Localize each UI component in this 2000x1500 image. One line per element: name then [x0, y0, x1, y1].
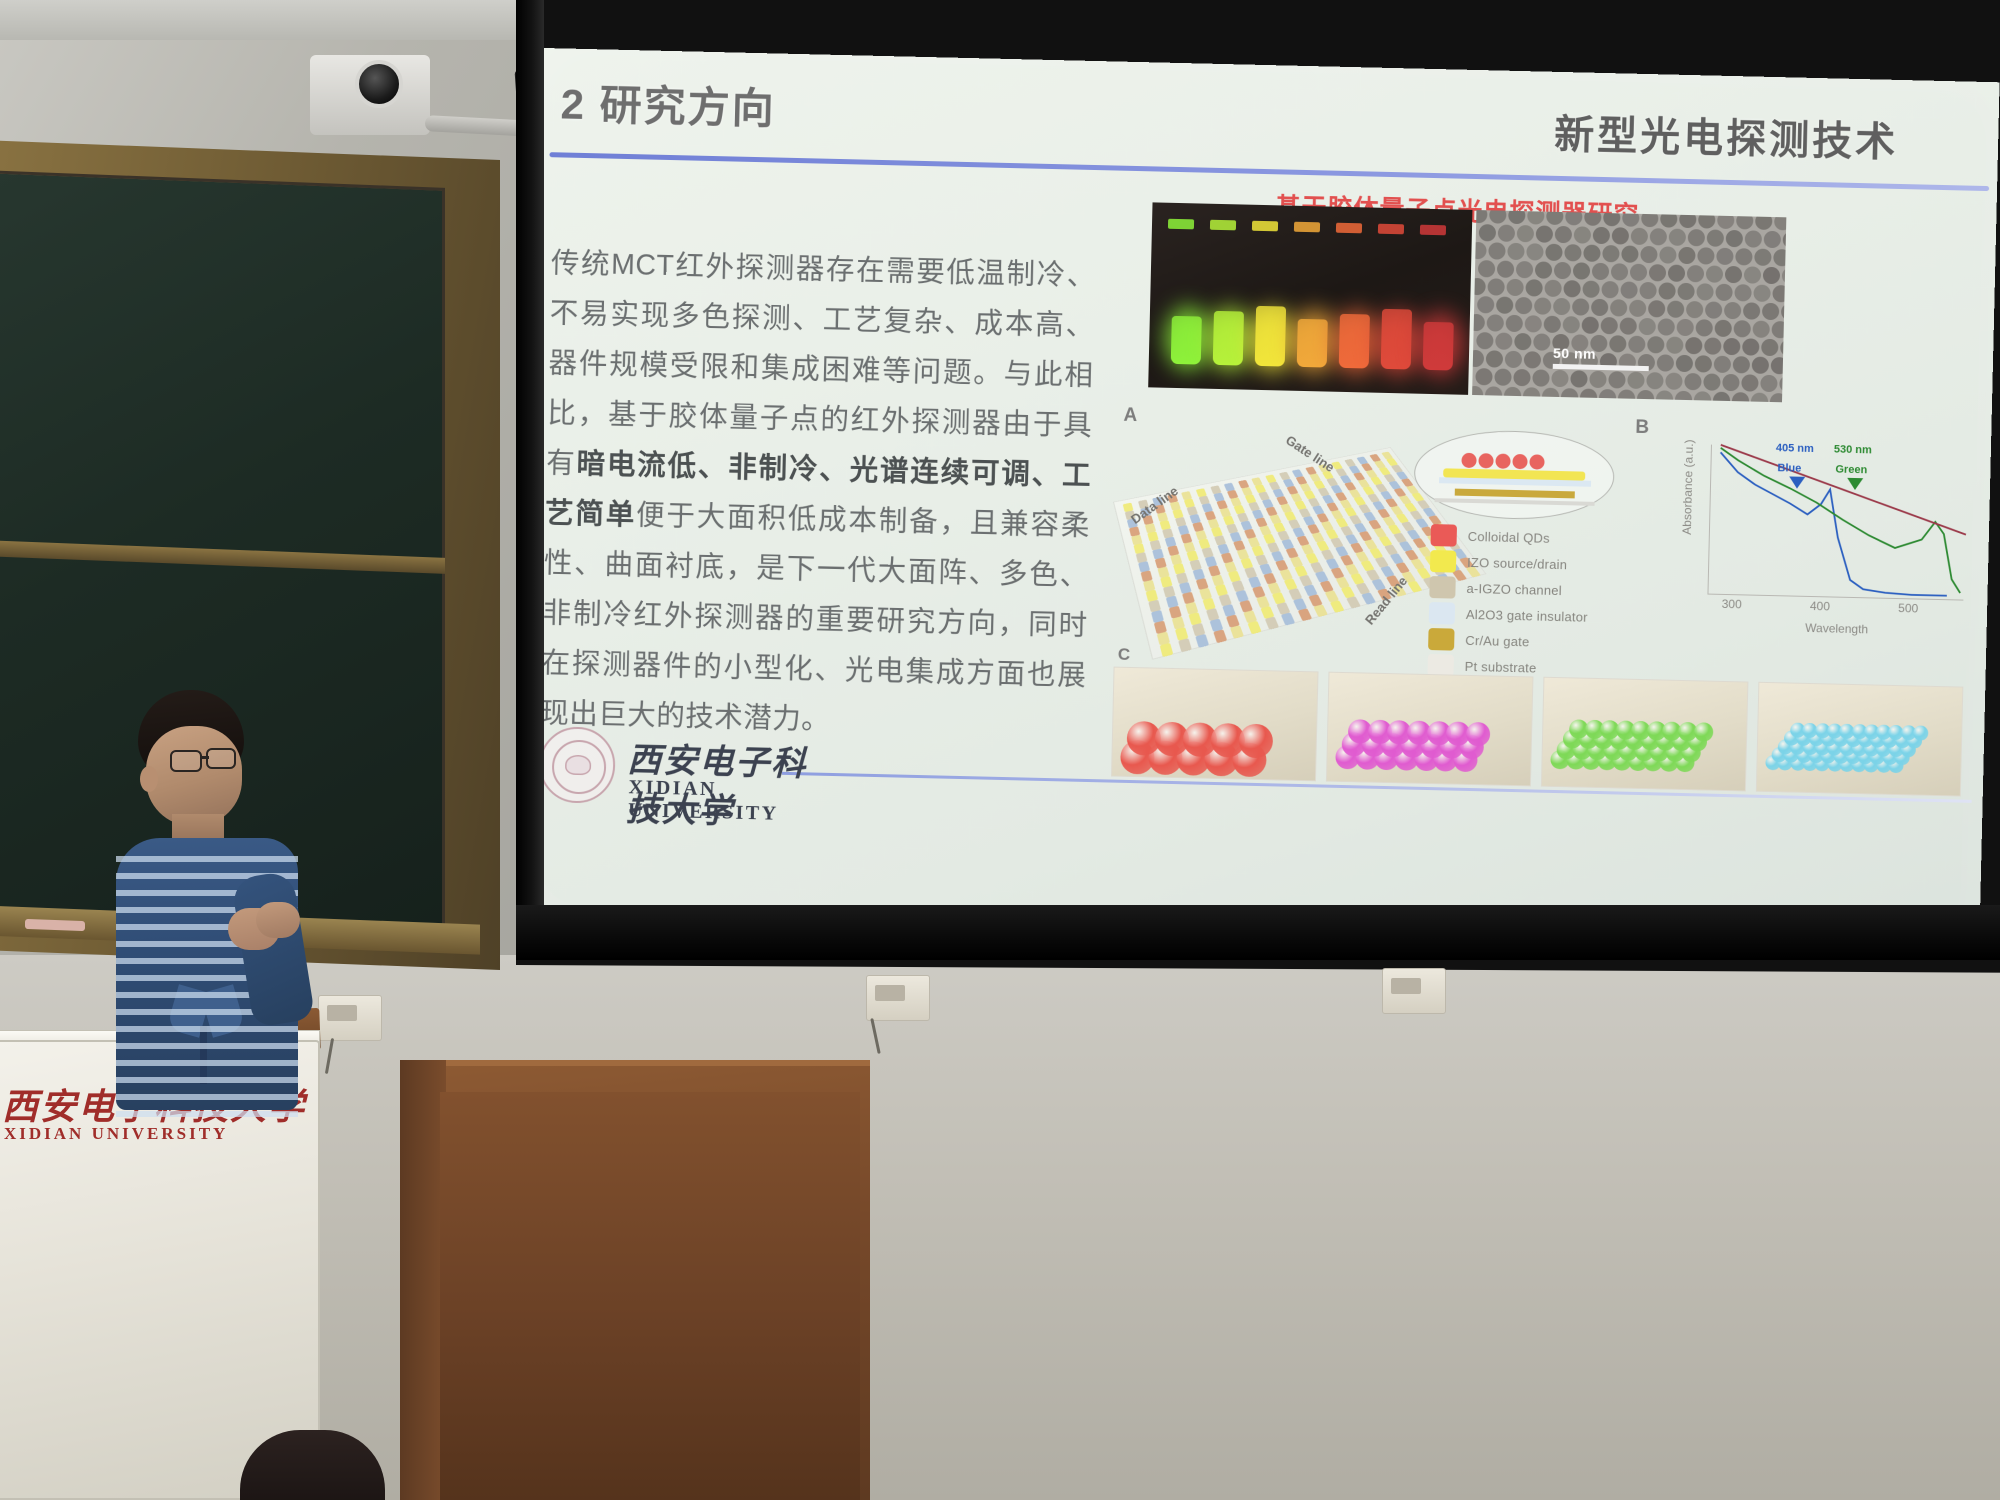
- qd-vial: [1423, 322, 1454, 371]
- glasses-bridge: [201, 756, 209, 759]
- chart-annotation: Green: [1835, 464, 1867, 477]
- xidian-seal-icon: [538, 726, 616, 804]
- tem-nanoparticle: [1639, 318, 1656, 335]
- tem-nanoparticle: [1496, 297, 1513, 314]
- qd-vial: [1213, 311, 1244, 366]
- presenter: [110, 690, 340, 1110]
- tem-nanoparticle: [1724, 302, 1741, 319]
- tem-nanoparticle: [1517, 225, 1534, 242]
- slide-body-text: 传统MCT红外探测器存在需要低温制冷、不易实现多色探测、工艺复杂、成本高、器件规…: [540, 238, 1097, 751]
- tem-nanoparticle: [1649, 264, 1666, 281]
- tem-nanoparticle: [1551, 370, 1568, 387]
- tem-nanoparticle: [1722, 374, 1739, 391]
- tem-nanoparticle: [1735, 248, 1752, 265]
- tem-nanoparticle: [1772, 321, 1787, 338]
- wall-socket[interactable]: [1382, 968, 1446, 1014]
- tem-nanoparticle: [1536, 225, 1553, 242]
- tem-nanoparticle: [1781, 303, 1786, 320]
- tem-nanoparticle: [1732, 392, 1749, 402]
- vial-cap: [1210, 220, 1236, 231]
- tem-nanoparticle: [1472, 314, 1485, 331]
- tem-nanoparticle: [1504, 387, 1521, 403]
- presenter-face: [146, 726, 242, 826]
- tem-nanoparticle: [1688, 229, 1705, 246]
- tem-nanoparticle: [1630, 264, 1647, 281]
- tem-nanoparticle: [1603, 210, 1620, 226]
- tem-nanoparticle: [1497, 261, 1514, 278]
- tem-nanoparticle: [1640, 246, 1657, 263]
- panel-c-letter: C: [1118, 645, 1131, 665]
- tem-nanoparticle: [1516, 261, 1533, 278]
- chart-series-blue: [1717, 452, 1950, 595]
- tem-nanoparticle: [1697, 247, 1714, 264]
- wall-socket[interactable]: [866, 975, 930, 1021]
- chart-annotation: Blue: [1777, 462, 1801, 475]
- tem-nanoparticle: [1627, 372, 1644, 389]
- tem-nanoparticle: [1612, 227, 1629, 244]
- tem-nanoparticle: [1734, 320, 1751, 337]
- chart-arrow-marker: [1789, 476, 1805, 488]
- tem-nanoparticle: [1553, 298, 1570, 315]
- crau-gate-layer: [1455, 489, 1575, 499]
- tem-nanoparticle: [1774, 213, 1786, 230]
- array-pixel: [1195, 634, 1209, 648]
- legend-swatch: [1431, 524, 1458, 547]
- tem-nanoparticle: [1507, 243, 1524, 260]
- figure-legend: Colloidal QDsIZO source/draina-IGZO chan…: [1427, 522, 1589, 682]
- legend-swatch: [1430, 550, 1457, 573]
- tem-nanoparticle: [1753, 321, 1770, 338]
- tem-nanoparticle: [1782, 267, 1787, 284]
- tem-nanoparticle: [1742, 338, 1759, 355]
- tem-nanoparticle: [1717, 212, 1734, 229]
- shirt-stripe: [116, 1111, 298, 1117]
- vial-cap: [1168, 219, 1194, 230]
- tem-nanoparticle: [1753, 285, 1770, 302]
- tem-nanoparticle: [1508, 210, 1525, 224]
- chalk-piece: [25, 919, 85, 931]
- array-pixel: [1247, 621, 1261, 634]
- tem-nanoparticle: [1667, 301, 1684, 318]
- screen-bottom-bar: [516, 905, 2000, 960]
- chart-x-tick: 300: [1722, 597, 1742, 611]
- tem-nanoparticle: [1707, 229, 1724, 246]
- vial-cap: [1336, 223, 1362, 234]
- legend-swatch: [1429, 576, 1456, 599]
- presenter-ear: [140, 766, 158, 792]
- tem-nanoparticle: [1544, 280, 1561, 297]
- shirt-stripe: [116, 1077, 298, 1083]
- tem-nanoparticle: [1589, 371, 1606, 388]
- chart-x-tick: 500: [1898, 601, 1918, 615]
- tem-nanoparticle: [1599, 389, 1616, 402]
- qd-sphere: [1466, 722, 1491, 747]
- tem-nanoparticle: [1772, 285, 1786, 302]
- tem-nanoparticle: [1574, 226, 1591, 243]
- tem-nanoparticle: [1743, 302, 1760, 319]
- tem-nanoparticle: [1565, 210, 1582, 225]
- qd-ball: [1461, 453, 1476, 468]
- tem-nanoparticle: [1648, 300, 1665, 317]
- tem-nanoparticle: [1773, 249, 1786, 266]
- tem-nanoparticle: [1679, 211, 1696, 228]
- tem-nanoparticle: [1669, 229, 1686, 246]
- tem-nanoparticle: [1563, 316, 1580, 333]
- tem-nanoparticle: [1760, 375, 1777, 392]
- legend-label: Colloidal QDs: [1468, 528, 1550, 545]
- shirt-stripe: [116, 1094, 298, 1100]
- array-pixel: [1346, 596, 1361, 609]
- panel-a-letter: A: [1123, 405, 1137, 427]
- tem-nanoparticle: [1696, 283, 1713, 300]
- tem-nanoparticle: [1675, 391, 1692, 403]
- tem-nanoparticle: [1744, 266, 1761, 283]
- tem-nanoparticle: [1584, 210, 1601, 226]
- tem-nanoparticle: [1660, 210, 1677, 227]
- tem-nanoparticle: [1570, 370, 1587, 387]
- tem-nanoparticle: [1472, 386, 1483, 402]
- array-pixel: [1264, 617, 1278, 630]
- tem-nanoparticle: [1666, 337, 1683, 354]
- legend-row: a-IGZO channel: [1429, 574, 1588, 604]
- tem-nanoparticle: [1472, 278, 1486, 295]
- tem-nanoparticle: [1544, 316, 1561, 333]
- legend-row: IZO source/drain: [1430, 548, 1589, 578]
- tem-nanoparticle: [1524, 351, 1541, 368]
- tem-nanoparticle: [1514, 333, 1531, 350]
- tem-nanoparticle: [1647, 336, 1664, 353]
- legend-label: IZO source/drain: [1467, 554, 1567, 571]
- tem-nanoparticle: [1639, 282, 1656, 299]
- tem-nanoparticle: [1745, 230, 1762, 247]
- tem-nanoparticle: [1620, 281, 1637, 298]
- tem-nanoparticle: [1763, 267, 1780, 284]
- tem-nanoparticle: [1563, 280, 1580, 297]
- tem-nanoparticle: [1472, 242, 1487, 259]
- tem-nanoparticle: [1736, 212, 1753, 229]
- array-pixel: [1213, 629, 1227, 643]
- tem-nanoparticle: [1733, 356, 1750, 373]
- tem-nanoparticle: [1703, 373, 1720, 390]
- tem-nanoparticle: [1582, 281, 1599, 298]
- tem-nanoparticle: [1646, 372, 1663, 389]
- tem-nanoparticle: [1725, 266, 1742, 283]
- legend-swatch: [1429, 602, 1456, 625]
- tem-nanoparticle: [1611, 263, 1628, 280]
- tem-nanoparticle: [1685, 337, 1702, 354]
- tem-nanoparticle: [1525, 279, 1542, 296]
- tem-nanoparticle: [1698, 211, 1715, 228]
- vial-cap: [1294, 222, 1320, 233]
- tem-nanoparticles: [1472, 210, 1786, 402]
- chart-annotation: 530 nm: [1834, 444, 1872, 457]
- tem-nanoparticle: [1542, 388, 1559, 403]
- tem-nanoparticle: [1526, 243, 1543, 260]
- slide-topic-title: 新型光电探测技术: [1554, 102, 1899, 168]
- tem-nanoparticle: [1485, 386, 1502, 402]
- vial-cap-row: [1162, 219, 1462, 248]
- tem-scale-label: 50 nm: [1553, 345, 1596, 362]
- tem-nanoparticle: [1554, 262, 1571, 279]
- tem-nanoparticle: [1779, 375, 1786, 392]
- tem-nanoparticle: [1656, 390, 1673, 402]
- tem-nanoparticle: [1780, 339, 1786, 356]
- tem-nanoparticle: [1487, 278, 1504, 295]
- tem-nanoparticle: [1677, 319, 1694, 336]
- chart-x-axis-label: Wavelength: [1707, 619, 1967, 639]
- tem-nanoparticle: [1696, 319, 1713, 336]
- array-pixel: [1178, 638, 1192, 652]
- tem-nanoparticle: [1677, 283, 1694, 300]
- shirt-stripe: [116, 1043, 298, 1049]
- tem-nanoparticle: [1479, 224, 1496, 241]
- qd-size-series-panels: 10-nm PbS QDs (infrared)7-nm CdSe QDs (r…: [1111, 667, 1973, 797]
- qd-size-panel: 5-nm CdSe QDs (green): [1541, 677, 1749, 792]
- array-pixel: [1330, 600, 1345, 613]
- tem-nanoparticle: [1668, 265, 1685, 282]
- tem-nanoparticle: [1583, 245, 1600, 262]
- tem-nanoparticle: [1534, 297, 1551, 314]
- vial-cap: [1420, 225, 1446, 236]
- tem-nanoparticle: [1601, 281, 1618, 298]
- tem-nanoparticle: [1477, 296, 1494, 313]
- qd-sphere: [1913, 725, 1928, 740]
- tem-nanoparticle: [1726, 230, 1743, 247]
- tem-nanoparticle: [1665, 373, 1682, 390]
- array-pixel: [1281, 612, 1295, 625]
- shirt-stripe: [116, 1026, 298, 1032]
- qd-vial: [1297, 319, 1328, 368]
- array-pixel: [1160, 643, 1174, 657]
- tem-nanoparticle: [1495, 332, 1512, 349]
- tem-nanoparticle: [1621, 245, 1638, 262]
- chart-annotation: 405 nm: [1776, 442, 1814, 455]
- qd-ball: [1529, 454, 1544, 469]
- tem-nanoparticle: [1734, 284, 1751, 301]
- tem-nanoparticle: [1608, 371, 1625, 388]
- screen-left-edge: [516, 0, 544, 960]
- xidian-logo: 西安电子科技大学 XIDIAN UNIVERSITY: [536, 724, 828, 813]
- vial-cap: [1378, 224, 1404, 235]
- tem-nanoparticle: [1714, 356, 1731, 373]
- tem-nanoparticle: [1472, 210, 1487, 223]
- tem-nanoparticle: [1694, 391, 1711, 402]
- shirt-stripe: [116, 856, 298, 862]
- tem-nanoparticle: [1506, 315, 1523, 332]
- tem-nanoparticle: [1762, 303, 1779, 320]
- tem-nanoparticle: [1770, 393, 1787, 402]
- legend-label: a-IGZO channel: [1466, 580, 1562, 597]
- tem-nanoparticle: [1659, 246, 1676, 263]
- tem-nanoparticle: [1475, 368, 1492, 385]
- device-cross-section-callout: [1413, 429, 1615, 522]
- slide-section-title: 2 研究方向: [560, 70, 776, 136]
- tem-nanoparticle: [1713, 392, 1730, 403]
- tem-nanoparticle: [1657, 354, 1674, 371]
- legend-label: Cr/Au gate: [1465, 632, 1529, 649]
- panel-b-letter: B: [1635, 417, 1649, 439]
- legend-swatch: [1428, 628, 1455, 651]
- shirt-placket: [200, 1026, 207, 1084]
- tem-nanoparticle: [1687, 265, 1704, 282]
- presentation-slide: 2 研究方向 新型光电探测技术 基于胶体量子点光电探测器研究 传统MCT红外探测…: [523, 48, 1999, 954]
- tem-nanoparticle: [1533, 333, 1550, 350]
- qd-size-panel: 7-nm CdSe QDs (red): [1326, 672, 1534, 787]
- tem-nanoparticle: [1629, 300, 1646, 317]
- camera-lens-icon: [355, 60, 403, 108]
- legend-label: Pt substrate: [1465, 658, 1537, 675]
- tem-micrograph: 50 nm: [1472, 210, 1786, 402]
- seal-bird-icon: [565, 755, 591, 776]
- chart-arrow-marker: [1847, 478, 1863, 490]
- tem-nanoparticle: [1489, 210, 1506, 224]
- array-pixel: [1314, 604, 1329, 617]
- tem-nanoparticle: [1641, 210, 1658, 227]
- tem-nanoparticle: [1505, 351, 1522, 368]
- qd-ball: [1512, 454, 1527, 469]
- legend-row: Al2O3 gate insulator: [1429, 600, 1588, 630]
- tem-nanoparticle: [1754, 249, 1771, 266]
- tem-nanoparticle: [1678, 247, 1695, 264]
- tem-nanoparticle: [1705, 301, 1722, 318]
- tem-nanoparticle: [1561, 388, 1578, 402]
- tem-nanoparticle: [1751, 393, 1768, 403]
- qd-size-panel: 3-nm CdSe QDs (blue): [1756, 682, 1964, 797]
- tem-nanoparticle: [1494, 368, 1511, 385]
- tem-nanoparticle: [1486, 350, 1503, 367]
- desk-front-panel: [440, 1092, 860, 1500]
- tem-nanoparticle: [1527, 210, 1544, 225]
- tem-nanoparticle: [1564, 244, 1581, 261]
- tem-nanoparticle: [1513, 369, 1530, 386]
- tem-nanoparticle: [1628, 336, 1645, 353]
- tem-nanoparticle: [1610, 299, 1627, 316]
- tem-nanoparticle: [1546, 210, 1563, 225]
- tem-nanoparticle: [1704, 337, 1721, 354]
- tem-nanoparticle: [1591, 299, 1608, 316]
- tem-nanoparticle: [1650, 228, 1667, 245]
- qd-sphere: [1694, 722, 1713, 741]
- tem-nanoparticle: [1523, 387, 1540, 402]
- tem-nanoparticle: [1478, 260, 1495, 277]
- tem-nanoparticle: [1472, 350, 1484, 367]
- tem-nanoparticle: [1752, 357, 1769, 374]
- tem-nanoparticle: [1532, 369, 1549, 386]
- tem-nanoparticle: [1706, 265, 1723, 282]
- array-pixel: [1298, 608, 1312, 621]
- body-segment-1: 传统MCT红外探测器存在需要低温制冷、不易实现多色探测、工艺复杂、成本高、器件规…: [546, 247, 1096, 480]
- tem-nanoparticle: [1620, 317, 1637, 334]
- pt-substrate-layer: [1435, 498, 1595, 506]
- body-segment-3: 便于大面积低成本制备，且兼容柔性、曲面衬底，是下一代大面阵、多色、非制冷红外探测…: [540, 499, 1090, 736]
- qd-ball: [1495, 454, 1510, 469]
- tem-nanoparticle: [1545, 244, 1562, 261]
- figure-column: 50 nm A B C Data line Gate line Read lin…: [1107, 197, 1992, 797]
- tem-nanoparticle: [1676, 355, 1693, 372]
- vial-cap: [1252, 221, 1278, 232]
- chart-y-axis-label: Absorbance (a.u.): [1679, 417, 1696, 557]
- presenter-hand: [256, 902, 300, 938]
- tem-nanoparticle: [1618, 389, 1635, 402]
- tem-nanoparticle: [1771, 357, 1787, 374]
- tem-nanoparticle: [1487, 314, 1504, 331]
- qd-vials-photo: [1148, 202, 1472, 394]
- tem-nanoparticle: [1476, 332, 1493, 349]
- tem-nanoparticle: [1525, 315, 1542, 332]
- glasses-right-lens-icon: [206, 748, 236, 769]
- tem-nanoparticle: [1609, 335, 1626, 352]
- tem-nanoparticle: [1555, 226, 1572, 243]
- absorbance-chart: Absorbance (a.u.) 405 nm530 nmBlueGreen …: [1667, 440, 1971, 637]
- logo-english-name: XIDIAN UNIVERSITY: [628, 776, 827, 827]
- tem-nanoparticle: [1715, 320, 1732, 337]
- tem-nanoparticle: [1506, 279, 1523, 296]
- tem-nanoparticle: [1601, 317, 1618, 334]
- tem-nanoparticle: [1622, 210, 1639, 227]
- tem-nanoparticle: [1498, 225, 1515, 242]
- tem-nanoparticle: [1592, 263, 1609, 280]
- tem-nanoparticle: [1637, 390, 1654, 402]
- qd-vial: [1255, 306, 1286, 367]
- tem-nanoparticle: [1535, 261, 1552, 278]
- tem-nanoparticle: [1658, 282, 1675, 299]
- tem-nanoparticle: [1658, 318, 1675, 335]
- tem-nanoparticle: [1515, 297, 1532, 314]
- qd-vial: [1171, 316, 1202, 365]
- array-pixel: [1230, 625, 1244, 639]
- colloidal-qd-row: [1461, 453, 1544, 470]
- tem-nanoparticle: [1684, 373, 1701, 390]
- chart-plot-area: 405 nm530 nmBlueGreen: [1707, 445, 1966, 601]
- ceiling-rail: [0, 0, 560, 40]
- tem-nanoparticle: [1723, 338, 1740, 355]
- tem-nanoparticle: [1715, 284, 1732, 301]
- tem-nanoparticle: [1695, 355, 1712, 372]
- tem-nanoparticle: [1716, 248, 1733, 265]
- tem-nanoparticle: [1580, 389, 1597, 403]
- qd-size-panel: 10-nm PbS QDs (infrared): [1111, 667, 1319, 782]
- tem-nanoparticle: [1764, 231, 1781, 248]
- tem-nanoparticle: [1488, 242, 1505, 259]
- tem-nanoparticle: [1582, 317, 1599, 334]
- tem-nanoparticle: [1761, 339, 1778, 356]
- tem-nanoparticle: [1686, 301, 1703, 318]
- qd-vial: [1339, 314, 1370, 369]
- legend-row: Colloidal QDs: [1430, 522, 1589, 552]
- qd-vial: [1381, 309, 1412, 370]
- tem-nanoparticle: [1741, 374, 1758, 391]
- tem-nanoparticle: [1631, 228, 1648, 245]
- tem-nanoparticle: [1602, 245, 1619, 262]
- glasses-left-lens-icon: [170, 750, 202, 772]
- tem-nanoparticle: [1755, 213, 1772, 230]
- legend-row: Cr/Au gate: [1428, 626, 1587, 656]
- tem-nanoparticle: [1593, 227, 1610, 244]
- chart-x-tick: 400: [1810, 599, 1830, 613]
- legend-label: Al2O3 gate insulator: [1466, 606, 1588, 624]
- tem-nanoparticle: [1783, 231, 1787, 248]
- shirt-stripe: [116, 1060, 298, 1066]
- podium-logo-english: XIDIAN UNIVERSITY: [4, 1124, 228, 1144]
- qd-ball: [1478, 453, 1493, 468]
- tem-nanoparticle: [1572, 298, 1589, 315]
- tem-nanoparticle: [1573, 262, 1590, 279]
